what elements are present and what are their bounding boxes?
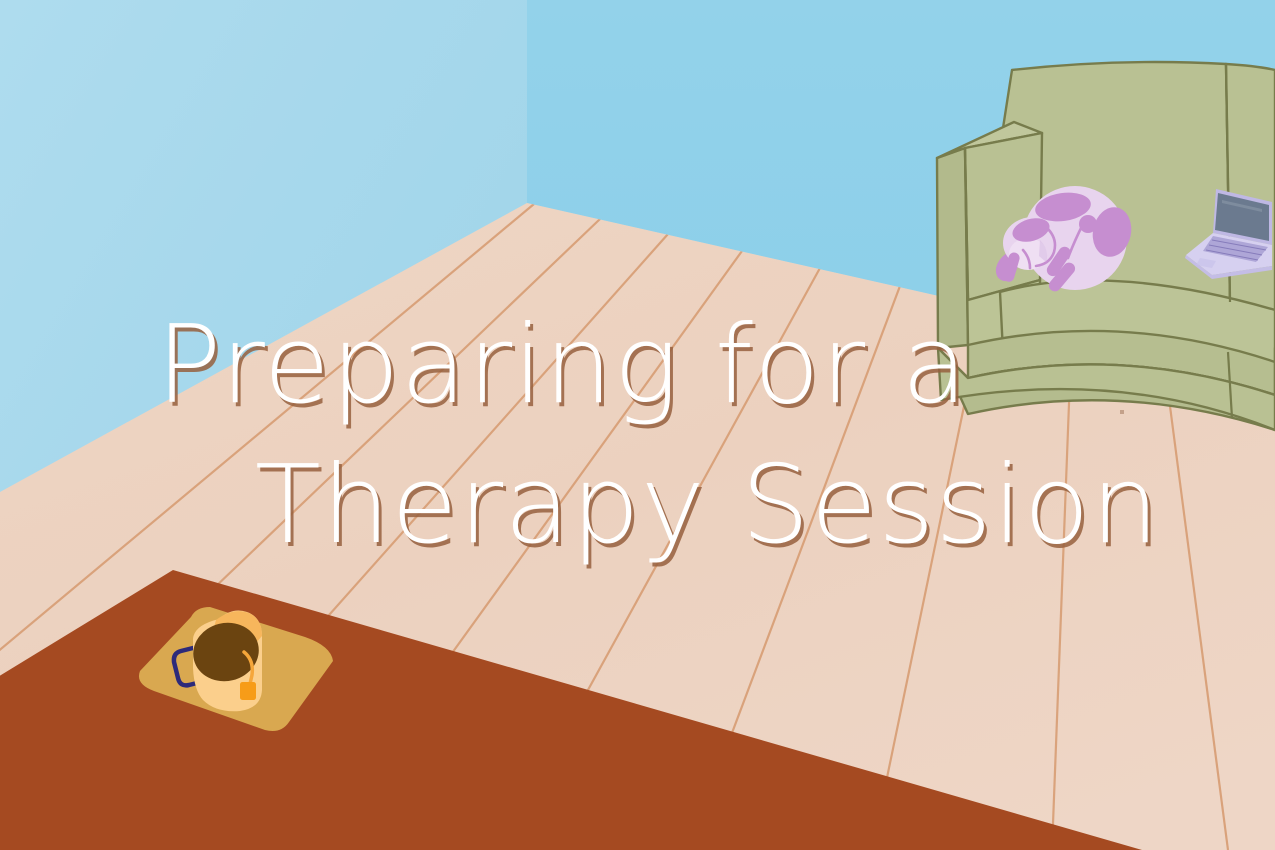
open-laptop [1185,189,1272,279]
laptop-layer [0,0,1275,850]
illustration-canvas: Preparing for a Therapy Session [0,0,1275,850]
